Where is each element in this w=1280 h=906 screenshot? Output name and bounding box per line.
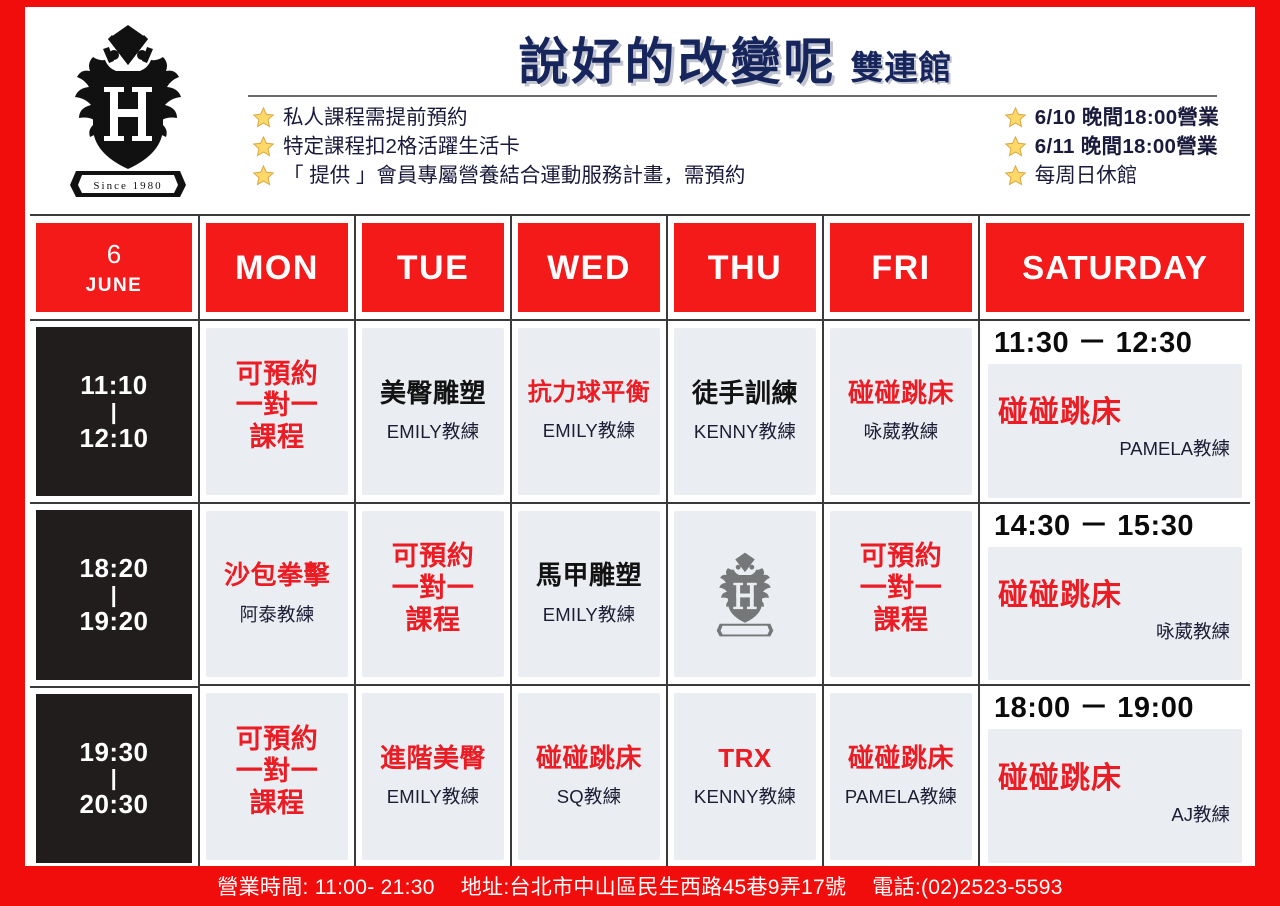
day-label: TUE [397, 251, 470, 285]
saturday-time: 14:30 － 15:30 [988, 508, 1242, 547]
class-cell[interactable]: 徒手訓練 KENNY教練 [668, 321, 822, 504]
class-cell[interactable]: 進階美臀 EMILY教練 [356, 686, 510, 869]
class-coach: EMILY教練 [543, 601, 636, 627]
class-name: 可預約 一對一 課程 [860, 541, 943, 637]
time-end: 20:30 [80, 789, 149, 820]
class-box: 馬甲雕塑 EMILY教練 [518, 511, 660, 678]
class-coach: SQ教練 [557, 783, 622, 809]
schedule-table: 6 JUNE 11:10 | 12:10 18:20 | 19:20 [30, 214, 1250, 869]
day-header-cell: SATURDAY [980, 216, 1250, 321]
day-chip-saturday: SATURDAY [986, 223, 1244, 312]
class-cell[interactable]: 馬甲雕塑 EMILY教練 [512, 504, 666, 687]
month-chip: 6 JUNE [36, 223, 192, 312]
class-box: 徒手訓練 KENNY教練 [674, 328, 816, 495]
class-box: 碰碰跳床 AJ教練 [988, 729, 1242, 863]
star-icon [1004, 135, 1027, 158]
class-cell[interactable]: 可預約 一對一 課程 [200, 686, 354, 869]
time-slot-cell: 11:10 | 12:10 [30, 321, 198, 504]
saturday-slot[interactable]: 14:30 － 15:30 碰碰跳床 咏葳教練 [980, 504, 1250, 687]
class-box: 抗力球平衡 EMILY教練 [518, 328, 660, 495]
class-coach: PAMELA教練 [845, 783, 957, 809]
note-text: 6/11 晚間18:00營業 [1035, 134, 1218, 159]
day-label: SATURDAY [1022, 251, 1208, 284]
day-label: THU [708, 251, 782, 285]
class-cell[interactable]: 碰碰跳床 PAMELA教練 [824, 686, 978, 869]
class-name: 碰碰跳床 [998, 762, 1230, 795]
notes-left: 私人課程需提前預約 特定課程扣2格活躍生活卡 「 提 [252, 105, 745, 188]
class-coach: EMILY教練 [387, 783, 480, 809]
class-box: 可預約 一對一 課程 [206, 693, 348, 860]
footer-address: 地址:台北市中山區民生西路45巷9弄17號 [461, 871, 847, 901]
day-label: WED [547, 251, 631, 285]
class-box: 可預約 一對一 課程 [362, 511, 504, 678]
class-cell[interactable]: 抗力球平衡 EMILY教練 [512, 321, 666, 504]
class-coach: 阿泰教練 [240, 601, 315, 627]
class-name: 碰碰跳床 [848, 744, 954, 773]
time-box: 11:10 | 12:10 [36, 327, 192, 496]
class-name: 碰碰跳床 [998, 579, 1230, 612]
day-header-cell: WED [512, 216, 666, 321]
class-box: 沙包拳擊 阿泰教練 [206, 511, 348, 678]
time-box: 18:20 | 19:20 [36, 510, 192, 679]
class-name: 可預約 一對一 課程 [236, 359, 319, 455]
note-item: 每周日休館 [1004, 163, 1138, 188]
note-item: 特定課程扣2格活躍生活卡 [252, 134, 745, 159]
class-coach: 咏葳教練 [864, 418, 939, 444]
time-column: 6 JUNE 11:10 | 12:10 18:20 | 19:20 [30, 216, 200, 869]
class-cell[interactable]: 碰碰跳床 SQ教練 [512, 686, 666, 869]
saturday-slot[interactable]: 11:30 － 12:30 碰碰跳床 PAMELA教練 [980, 321, 1250, 504]
star-icon [252, 106, 275, 129]
day-label: FRI [871, 251, 930, 285]
day-column-saturday: SATURDAY 11:30 － 12:30 碰碰跳床 PAMELA教練 14:… [980, 216, 1250, 869]
day-chip-thu: THU [674, 223, 816, 312]
day-header-cell: MON [200, 216, 354, 321]
class-cell[interactable]: 可預約 一對一 課程 [200, 321, 354, 504]
day-column-wed: WED 抗力球平衡 EMILY教練 馬甲雕塑 EMILY教練 [512, 216, 668, 869]
class-name: 可預約 一對一 課程 [236, 724, 319, 820]
time-end: 12:10 [80, 423, 149, 454]
branch-name: 雙連館 [851, 51, 953, 87]
class-coach: EMILY教練 [387, 418, 480, 444]
class-box: 可預約 一對一 課程 [830, 511, 972, 678]
month-name: JUNE [86, 276, 143, 295]
day-chip-wed: WED [518, 223, 660, 312]
class-box: TRX KENNY教練 [674, 693, 816, 860]
class-cell[interactable]: 沙包拳擊 阿泰教練 [200, 504, 354, 687]
time-end: 19:20 [80, 606, 149, 637]
class-coach: 咏葳教練 [998, 618, 1230, 644]
class-box: 美臀雕塑 EMILY教練 [362, 328, 504, 495]
poster-header: Since 1980 說好的改變呢 雙連館 私人課程需提前預約 [25, 7, 1255, 214]
day-column-tue: TUE 美臀雕塑 EMILY教練 可預約 一對一 課程 [356, 216, 512, 869]
class-name: 沙包拳擊 [224, 561, 330, 590]
day-label: MON [235, 251, 319, 285]
logo-banner-text: Since 1980 [93, 180, 162, 192]
note-text: 私人課程需提前預約 [283, 105, 468, 130]
title-row: 說好的改變呢 雙連館 [230, 7, 1241, 87]
saturday-time: 18:00 － 19:00 [988, 690, 1242, 729]
month-number: 6 [107, 241, 121, 267]
poster-sheet: Since 1980 說好的改變呢 雙連館 私人課程需提前預約 [25, 7, 1255, 869]
class-cell[interactable]: 碰碰跳床 咏葳教練 [824, 321, 978, 504]
star-icon [1004, 106, 1027, 129]
class-cell[interactable]: 美臀雕塑 EMILY教練 [356, 321, 510, 504]
star-icon [252, 135, 275, 158]
class-name: 碰碰跳床 [998, 396, 1230, 429]
time-start: 18:20 [80, 553, 149, 584]
footer-bar: 營業時間: 11:00- 21:30 地址:台北市中山區民生西路45巷9弄17號… [0, 866, 1280, 906]
star-icon [252, 164, 275, 187]
class-box: 碰碰跳床 咏葳教練 [830, 328, 972, 495]
day-chip-tue: TUE [362, 223, 504, 312]
class-name: 馬甲雕塑 [536, 561, 642, 590]
page-title: 說好的改變呢 [519, 37, 837, 87]
note-item: 「 提供 」會員專屬營養結合運動服務計畫，需預約 [252, 163, 745, 188]
class-box-watermark [674, 511, 816, 678]
class-coach: PAMELA教練 [998, 435, 1230, 461]
day-column-fri: FRI 碰碰跳床 咏葳教練 可預約 一對一 課程 [824, 216, 980, 869]
day-column-mon: MON 可預約 一對一 課程 沙包拳擊 阿泰教練 [200, 216, 356, 869]
class-box: 碰碰跳床 SQ教練 [518, 693, 660, 860]
day-chip-mon: MON [206, 223, 348, 312]
class-cell[interactable] [668, 504, 822, 687]
time-start: 11:10 [80, 370, 148, 401]
day-header-cell: TUE [356, 216, 510, 321]
notes-section: 私人課程需提前預約 特定課程扣2格活躍生活卡 「 提 [230, 97, 1241, 188]
time-slot-cell: 18:20 | 19:20 [30, 504, 198, 687]
class-name: 碰碰跳床 [848, 379, 954, 408]
class-coach: EMILY教練 [543, 417, 636, 443]
class-coach: KENNY教練 [694, 783, 796, 809]
time-separator: | [111, 401, 118, 423]
time-separator: | [111, 767, 118, 789]
note-text: 特定課程扣2格活躍生活卡 [283, 134, 520, 159]
day-header-cell: FRI [824, 216, 978, 321]
footer-phone: 電話:(02)2523-5593 [872, 871, 1062, 901]
class-box: 進階美臀 EMILY教練 [362, 693, 504, 860]
saturday-time: 11:30 － 12:30 [988, 325, 1242, 364]
header-text-block: 說好的改變呢 雙連館 私人課程需提前預約 [230, 7, 1255, 214]
class-name: 可預約 一對一 課程 [392, 541, 475, 637]
note-item: 6/11 晚間18:00營業 [1004, 134, 1218, 159]
class-name: 進階美臀 [380, 744, 486, 773]
footer-hours: 營業時間: 11:00- 21:30 [217, 871, 434, 901]
poster-root: Since 1980 說好的改變呢 雙連館 私人課程需提前預約 [0, 0, 1280, 906]
class-name: 美臀雕塑 [380, 379, 486, 408]
note-item: 私人課程需提前預約 [252, 105, 745, 130]
time-start: 19:30 [80, 737, 149, 768]
class-name: TRX [718, 744, 772, 773]
time-box: 19:30 | 20:30 [36, 694, 192, 863]
class-name: 徒手訓練 [692, 379, 798, 408]
class-box: 碰碰跳床 咏葳教練 [988, 547, 1242, 681]
class-cell[interactable]: 可預約 一對一 課程 [356, 504, 510, 687]
brand-logo: Since 1980 [25, 7, 230, 214]
class-coach: AJ教練 [998, 801, 1230, 827]
notes-right: 6/10 晚間18:00營業 6/11 晚間18:00營業 [1004, 105, 1231, 188]
class-coach: KENNY教練 [694, 418, 796, 444]
time-slot-cell: 19:30 | 20:30 [30, 688, 198, 869]
class-name: 抗力球平衡 [528, 380, 651, 407]
time-separator: | [111, 584, 118, 606]
saturday-slot[interactable]: 18:00 － 19:00 碰碰跳床 AJ教練 [980, 686, 1250, 869]
note-text: 6/10 晚間18:00營業 [1035, 105, 1219, 130]
day-header-cell: THU [668, 216, 822, 321]
month-header-cell: 6 JUNE [30, 216, 198, 321]
crest-logo-icon: Since 1980 [48, 19, 208, 201]
class-cell[interactable]: TRX KENNY教練 [668, 686, 822, 869]
day-column-thu: THU 徒手訓練 KENNY教練 [668, 216, 824, 869]
note-text: 「 提供 」會員專屬營養結合運動服務計畫，需預約 [283, 163, 745, 188]
class-name: 碰碰跳床 [536, 744, 642, 773]
crest-watermark-icon [706, 549, 784, 639]
star-icon [1004, 164, 1027, 187]
class-box: 可預約 一對一 課程 [206, 328, 348, 495]
note-text: 每周日休館 [1035, 163, 1138, 188]
day-chip-fri: FRI [830, 223, 972, 312]
class-cell[interactable]: 可預約 一對一 課程 [824, 504, 978, 687]
class-box: 碰碰跳床 PAMELA教練 [988, 364, 1242, 498]
note-item: 6/10 晚間18:00營業 [1004, 105, 1219, 130]
class-box: 碰碰跳床 PAMELA教練 [830, 693, 972, 860]
